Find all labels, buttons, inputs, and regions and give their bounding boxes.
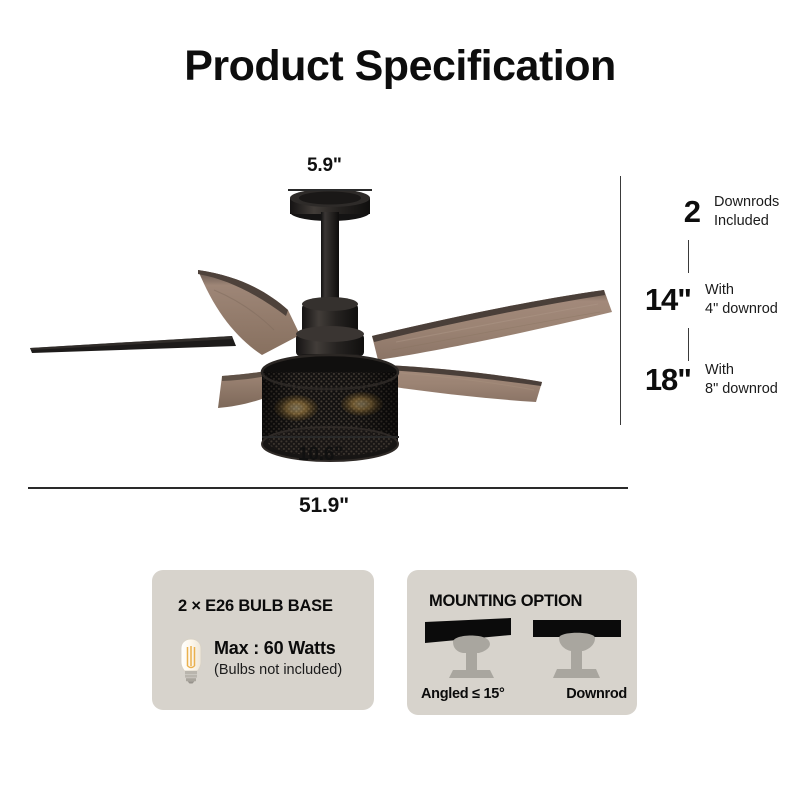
dim-label-blade-span: 51.9" [299,494,349,518]
dim-rule-lightkit-width [262,436,399,438]
height-spec-value: 14" [629,282,691,318]
mount-option-label-angled: Angled ≤ 15° [421,686,504,702]
bulb-base-card: 2 × E26 BULB BASE Max [152,570,374,710]
mount-card-heading: MOUNTING OPTION [429,592,582,611]
edison-bulb-icon [178,638,204,684]
height-spec-row-downrods: 2 Downrods Included [638,193,779,230]
ceiling-fan-illustration [0,150,660,480]
height-spec-desc-line2: 4" downrod [705,300,778,319]
fan-downrod [321,212,339,311]
dim-label-lightkit-width: 10.6" [298,444,343,466]
bulb-card-heading: 2 × E26 BULB BASE [178,597,333,616]
fan-blade-left-edge [30,336,236,353]
mount-option-labels: Angled ≤ 15° Downrod [421,686,627,702]
mount-figures [423,618,623,684]
mounting-option-card: MOUNTING OPTION Angle [407,570,637,715]
height-spec-value: 2 [638,194,700,230]
height-spec-row-18in: 18" With 8" downrod [629,361,778,398]
dim-label-canopy-width: 5.9" [307,155,342,177]
height-spec-axis [620,176,621,425]
height-spec-desc-line1: Downrods [714,193,779,212]
specification-sheet: Product Specification [0,0,800,800]
mount-option-label-downrod: Downrod [566,686,627,702]
bulb-max-watts: Max : 60 Watts [214,638,342,659]
height-spec-desc-line2: 8" downrod [705,380,778,399]
height-spec-desc: Downrods Included [714,193,779,230]
flat-ceiling-mount-icon [533,620,621,678]
height-spec-divider-2 [688,328,689,361]
page-title: Product Specification [0,42,800,91]
height-spec-desc-line1: With [705,361,778,380]
height-spec-desc-line1: With [705,281,778,300]
dim-rule-blade-span [28,487,628,489]
height-spec-value: 18" [629,362,691,398]
height-spec-desc-line2: Included [714,212,779,231]
bulb-watt-info: Max : 60 Watts (Bulbs not included) [214,638,342,678]
fan-blade-right-upper [372,290,612,360]
height-spec-row-14in: 14" With 4" downrod [629,281,778,318]
height-spec-divider-1 [688,240,689,273]
height-spec-desc: With 8" downrod [705,361,778,398]
angled-ceiling-mount-icon [425,618,511,678]
height-spec-desc: With 4" downrod [705,281,778,318]
dim-rule-canopy-width [288,189,372,191]
bulb-note: (Bulbs not included) [214,662,342,678]
